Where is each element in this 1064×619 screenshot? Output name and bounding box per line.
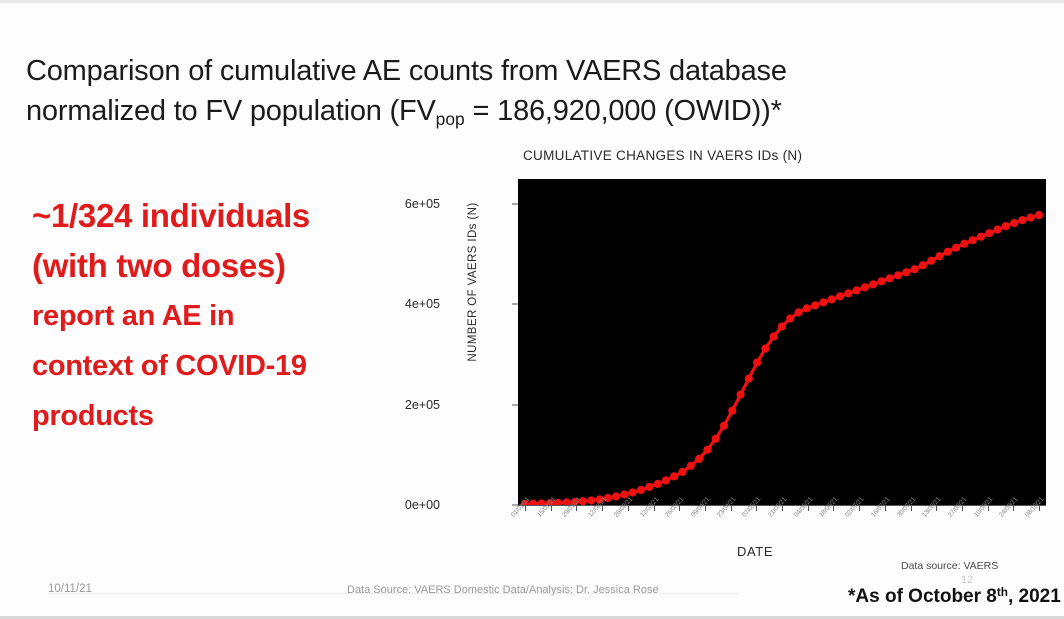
- page-title-line-2: normalized to FV population (FVpop = 186…: [26, 91, 976, 139]
- series-marker: [1002, 222, 1010, 230]
- series-marker: [927, 257, 935, 265]
- callout-line-2: (with two doses): [32, 241, 424, 291]
- series-marker: [670, 472, 678, 480]
- chart-source-caption: Data source: VAERS: [901, 560, 998, 572]
- series-marker: [687, 462, 695, 470]
- footer-date: 10/11/21: [48, 583, 92, 595]
- page-title: Comparison of cumulative AE counts from …: [26, 51, 976, 139]
- series-marker: [753, 358, 761, 366]
- y-axis-tick-mark: [512, 404, 518, 405]
- series-marker: [703, 446, 711, 454]
- chart-figure: CUMULATIVE CHANGES IN VAERS IDs (N) NUMB…: [437, 146, 1057, 566]
- series-marker: [629, 488, 637, 496]
- slide-number: 12: [961, 574, 973, 586]
- series-marker: [894, 271, 902, 279]
- series-marker: [778, 322, 786, 330]
- series-marker: [770, 332, 778, 340]
- callout-line-3: report an AE in: [32, 291, 424, 341]
- series-marker: [828, 295, 836, 303]
- series-marker: [678, 468, 686, 476]
- y-axis-tick-label: 4e+05: [405, 297, 440, 311]
- series-marker: [919, 261, 927, 269]
- series-marker: [645, 483, 653, 491]
- callout-line-5: products: [32, 391, 424, 441]
- as-of-note-pre: *As of October 8: [848, 586, 997, 607]
- slide-canvas: Comparison of cumulative AE counts from …: [0, 0, 1064, 619]
- series-marker: [637, 486, 645, 494]
- y-axis-tick-label: 0e+00: [405, 498, 440, 512]
- series-marker: [1018, 216, 1026, 224]
- series-marker: [794, 308, 802, 316]
- series-marker: [944, 248, 952, 256]
- x-axis-title: DATE: [737, 544, 773, 559]
- series-marker: [960, 240, 968, 248]
- series-marker: [819, 298, 827, 306]
- series-marker: [695, 455, 703, 463]
- y-axis-tick-label: 2e+05: [405, 398, 440, 412]
- series-marker: [886, 274, 894, 282]
- fv-pop-subscript: pop: [436, 109, 465, 129]
- series-marker: [993, 226, 1001, 234]
- series-marker: [736, 391, 744, 399]
- series-marker: [844, 289, 852, 297]
- footer-source: Data Source: VAERS Domestic Data/Analysi…: [347, 584, 659, 596]
- series-marker: [1010, 219, 1018, 227]
- series-marker: [1027, 214, 1035, 222]
- chart-title: CUMULATIVE CHANGES IN VAERS IDs (N): [523, 148, 802, 163]
- series-marker: [587, 496, 595, 504]
- series-marker: [861, 283, 869, 291]
- callout-text-block: ~1/324 individuals (with two doses) repo…: [32, 191, 424, 441]
- series-marker: [869, 280, 877, 288]
- page-title-line-1: Comparison of cumulative AE counts from …: [26, 51, 976, 91]
- series-marker: [935, 252, 943, 260]
- series-marker: [761, 344, 769, 352]
- y-axis-tick-mark: [512, 204, 518, 205]
- series-marker: [720, 422, 728, 430]
- series-marker: [977, 233, 985, 241]
- page-title-line-2-part-b: = 186,920,000 (OWID))*: [465, 95, 782, 127]
- callout-line-4: context of COVID-19: [32, 341, 424, 391]
- as-of-ordinal: th: [997, 586, 1008, 599]
- y-axis-tick-label: 6e+05: [405, 197, 440, 211]
- page-title-line-2-part-a: normalized to FV population (FV: [26, 95, 436, 127]
- series-marker: [728, 407, 736, 415]
- series-marker: [853, 286, 861, 294]
- series-marker: [902, 268, 910, 276]
- as-of-note-post: , 2021: [1008, 586, 1061, 607]
- series-marker: [662, 476, 670, 484]
- series-marker: [786, 314, 794, 322]
- series-marker: [654, 480, 662, 488]
- series-marker: [985, 229, 993, 237]
- callout-line-1: ~1/324 individuals: [32, 191, 424, 241]
- chart-plot-area: [518, 179, 1046, 505]
- series-marker: [803, 304, 811, 312]
- y-axis-tick-mark: [512, 304, 518, 305]
- series-marker: [712, 435, 720, 443]
- series-marker: [745, 375, 753, 383]
- series-marker: [1035, 211, 1043, 219]
- series-marker: [836, 292, 844, 300]
- series-marker: [911, 265, 919, 273]
- series-marker: [811, 301, 819, 309]
- series-marker: [969, 236, 977, 244]
- series-marker: [877, 277, 885, 285]
- y-axis-title: NUMBER OF VAERS IDs (N): [467, 172, 479, 392]
- as-of-note: *As of October 8th, 2021: [848, 586, 1061, 608]
- vaers-cumulative-series: [518, 179, 1046, 505]
- series-line: [525, 215, 1039, 504]
- series-marker: [612, 492, 620, 500]
- series-marker: [952, 244, 960, 252]
